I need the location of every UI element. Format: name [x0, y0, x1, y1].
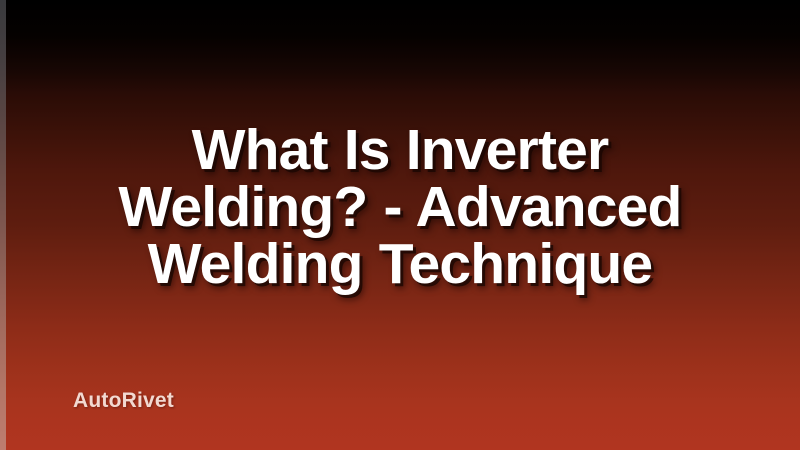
headline-line-1: What Is Inverter: [28, 122, 772, 179]
thumbnail-card: What Is Inverter Welding? - Advanced Wel…: [0, 0, 800, 450]
headline-line-2: Welding? - Advanced: [28, 179, 772, 236]
brand-wordmark: AutoRivet: [73, 389, 174, 413]
headline-line-3: Welding Technique: [28, 236, 772, 293]
page-title: What Is Inverter Welding? - Advanced Wel…: [0, 122, 800, 293]
